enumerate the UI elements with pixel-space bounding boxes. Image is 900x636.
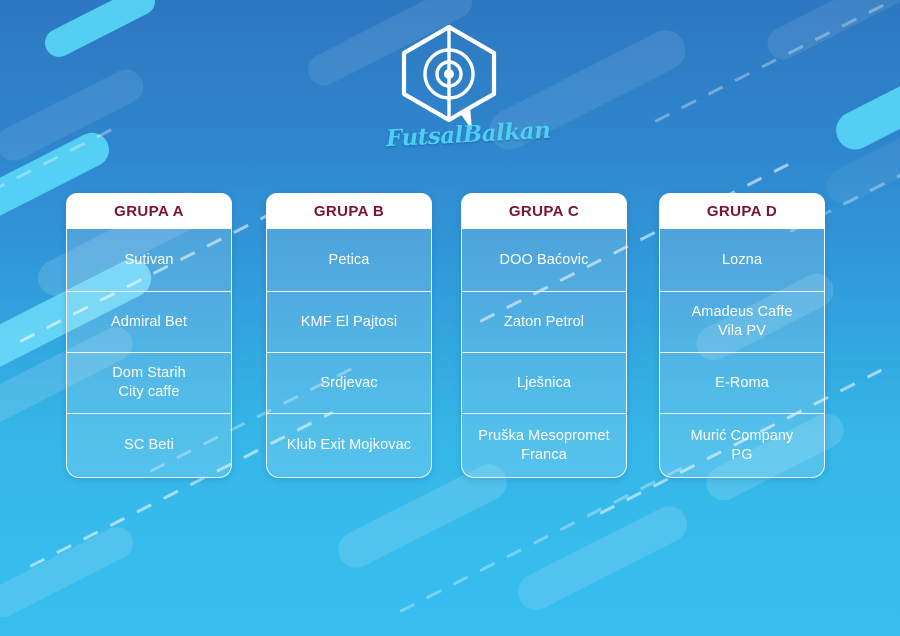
group-title: GRUPA C: [461, 193, 627, 229]
team-row[interactable]: Srdjevac: [267, 353, 431, 414]
group-title: GRUPA A: [66, 193, 232, 229]
hexagon-futsal-pitch-icon: [386, 18, 512, 136]
team-row[interactable]: SC Beti: [67, 414, 231, 477]
team-row[interactable]: E-Roma: [660, 353, 824, 414]
team-row[interactable]: Lozna: [660, 229, 824, 292]
decor-capsule: [830, 54, 900, 156]
group-card-d: GRUPA D Lozna Amadeus CaffeVila PV E-Rom…: [659, 193, 825, 478]
team-row[interactable]: KMF El Pajtosi: [267, 292, 431, 353]
team-list: Petica KMF El Pajtosi Srdjevac Klub Exit…: [266, 229, 432, 478]
group-title: GRUPA D: [659, 193, 825, 229]
team-row[interactable]: Sutivan: [67, 229, 231, 292]
decor-dashed-line: [654, 0, 896, 123]
team-row[interactable]: Petica: [267, 229, 431, 292]
team-row[interactable]: Klub Exit Mojkovac: [267, 414, 431, 477]
logo-wordmark: FutsalBalkan: [385, 119, 512, 153]
team-row[interactable]: DOO Baćovic: [462, 229, 626, 292]
team-row[interactable]: Dom StarihCity caffe: [67, 353, 231, 414]
team-row[interactable]: Zaton Petrol: [462, 292, 626, 353]
decor-capsule: [0, 64, 149, 167]
tournament-groups-poster: FutsalBalkan GRUPA A Sutivan Admiral Bet…: [0, 0, 900, 636]
decor-dashed-line: [399, 465, 685, 613]
group-card-a: GRUPA A Sutivan Admiral Bet Dom StarihCi…: [66, 193, 232, 478]
decor-capsule: [762, 0, 900, 65]
team-row[interactable]: Amadeus CaffeVila PV: [660, 292, 824, 353]
decor-capsule: [40, 0, 160, 62]
team-row[interactable]: Pruška MesoprometFranca: [462, 414, 626, 477]
group-title: GRUPA B: [266, 193, 432, 229]
decor-capsule: [0, 521, 139, 622]
groups-container: GRUPA A Sutivan Admiral Bet Dom StarihCi…: [0, 193, 900, 483]
team-row[interactable]: Admiral Bet: [67, 292, 231, 353]
decor-dashed-line: [0, 122, 124, 193]
team-row[interactable]: Murić CompanyPG: [660, 414, 824, 477]
team-list: DOO Baćovic Zaton Petrol Lješnica Pruška…: [461, 229, 627, 478]
group-card-c: GRUPA C DOO Baćovic Zaton Petrol Lješnic…: [461, 193, 627, 478]
team-list: Sutivan Admiral Bet Dom StarihCity caffe…: [66, 229, 232, 478]
group-card-b: GRUPA B Petica KMF El Pajtosi Srdjevac K…: [266, 193, 432, 478]
brand-logo: FutsalBalkan: [386, 18, 512, 173]
team-row[interactable]: Lješnica: [462, 353, 626, 414]
team-list: Lozna Amadeus CaffeVila PV E-Roma Murić …: [659, 229, 825, 478]
decor-capsule: [512, 500, 693, 616]
